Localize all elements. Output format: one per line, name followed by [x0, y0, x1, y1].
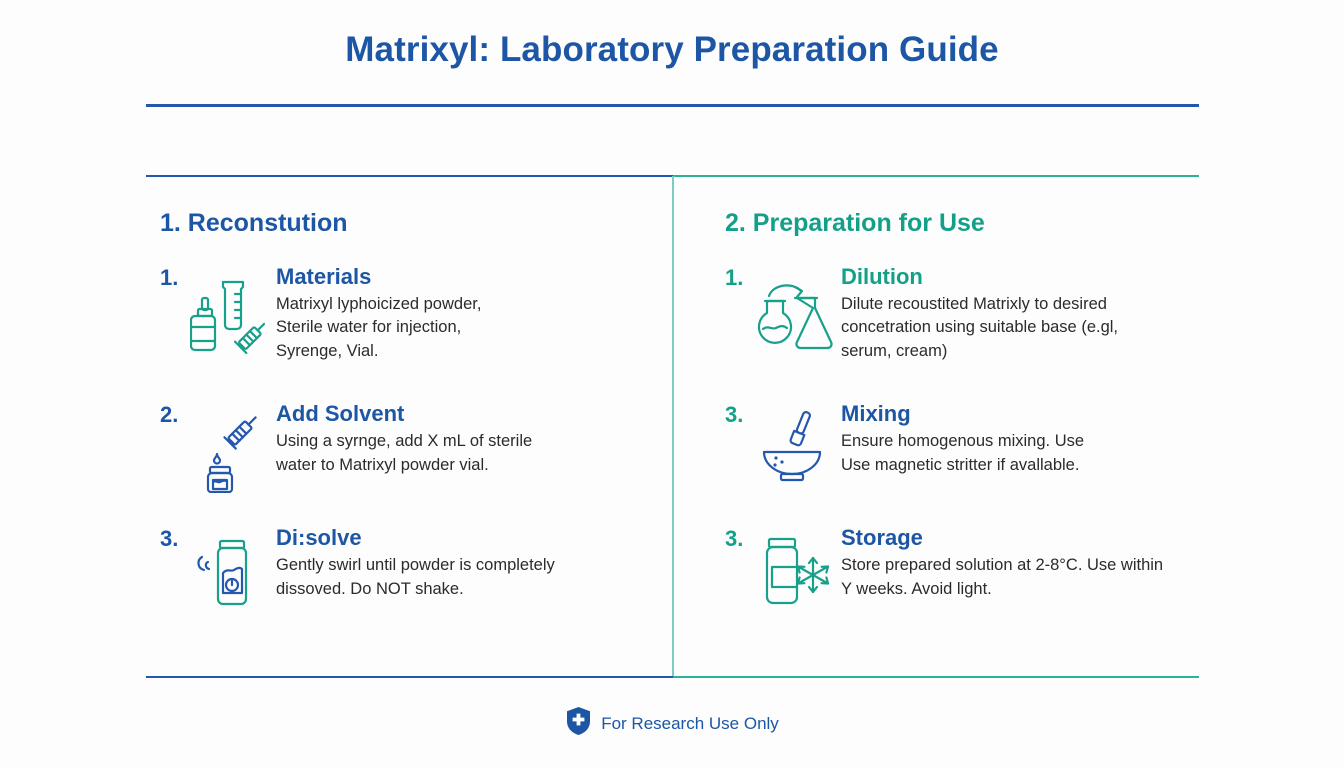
dropper-bottle-beaker-syringe-icon — [190, 264, 276, 350]
syringe-dripping-into-vial-icon — [190, 401, 276, 487]
infographic-page: Matrixyl: Laboratory Preparation Guide 1… — [0, 0, 1344, 768]
swirling-vial-icon — [190, 525, 276, 611]
step-dissolve: 3. Di:solve Gently swirl until powd — [160, 525, 660, 611]
column-heading-right: 2. Preparation for Use — [725, 210, 1225, 238]
step-title: Mixing — [841, 401, 1225, 426]
column-preparation-for-use: 2. Preparation for Use 1. — [725, 210, 1225, 625]
step-add-solvent: 2. — [160, 401, 660, 487]
step-body: Add Solvent Using a syrnge, add X mL of … — [276, 401, 660, 477]
footer-text: For Research Use Only — [601, 714, 779, 734]
step-dilution: 1. Dilution Dilute recoustited Matr — [725, 264, 1225, 364]
column-heading-left: 1. Reconstution — [160, 210, 660, 238]
title-divider — [146, 104, 1199, 107]
step-number: 1. — [725, 264, 755, 290]
step-description: Ensure homogenous mixing. Use Use magnet… — [841, 430, 1225, 477]
flasks-transfer-arrow-icon — [755, 264, 841, 350]
section-divider-left — [146, 175, 673, 177]
step-storage: 3. — [725, 525, 1225, 611]
column-reconstitution: 1. Reconstution 1. — [160, 210, 660, 625]
step-description: Store prepared solution at 2-8°C. Use wi… — [841, 554, 1225, 601]
step-materials: 1. — [160, 264, 660, 364]
page-title: Matrixyl: Laboratory Preparation Guide — [0, 30, 1344, 70]
step-body: Dilution Dilute recoustited Matrixly to … — [841, 264, 1225, 364]
step-title: Dilution — [841, 264, 1225, 289]
section-divider-right — [673, 175, 1199, 177]
footer-divider-right — [673, 676, 1199, 678]
mortar-pestle-bowl-icon — [755, 401, 841, 487]
step-body: Storage Store prepared solution at 2-8°C… — [841, 525, 1225, 601]
step-title: Materials — [276, 264, 660, 289]
vial-snowflake-icon — [755, 525, 841, 611]
step-number: 3. — [725, 401, 755, 427]
step-title: Di:solve — [276, 525, 660, 550]
step-body: Materials Matrixyl lyphoicized powder, S… — [276, 264, 660, 364]
footer: For Research Use Only — [0, 706, 1344, 741]
step-number: 3. — [725, 525, 755, 551]
footer-divider-left — [146, 676, 673, 678]
column-divider — [672, 176, 674, 676]
step-mixing: 3. Mixing Ensure hom — [725, 401, 1225, 487]
step-body: Mixing Ensure homogenous mixing. Use Use… — [841, 401, 1225, 477]
step-number: 2. — [160, 401, 190, 427]
step-title: Storage — [841, 525, 1225, 550]
step-description: Gently swirl until powder is completely … — [276, 554, 660, 601]
step-body: Di:solve Gently swirl until powder is co… — [276, 525, 660, 601]
step-description: Using a syrnge, add X mL of sterile wate… — [276, 430, 660, 477]
step-number: 1. — [160, 264, 190, 290]
step-number: 3. — [160, 525, 190, 551]
shield-plus-icon — [565, 706, 592, 741]
step-title: Add Solvent — [276, 401, 660, 426]
step-description: Matrixyl lyphoicized powder, Sterile wat… — [276, 293, 660, 363]
step-description: Dilute recoustited Matrixly to desired c… — [841, 293, 1225, 363]
